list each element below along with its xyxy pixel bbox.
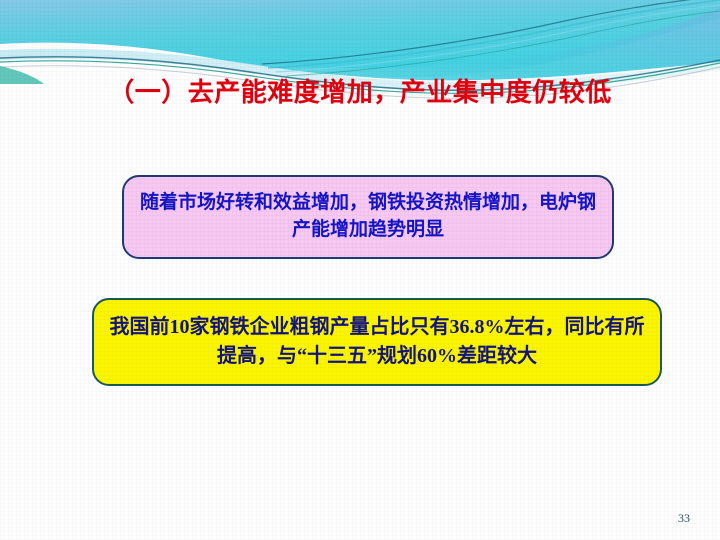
pink-callout-text: 随着市场好转和效益增加，钢铁投资热情增加，电炉钢产能增加趋势明显: [124, 190, 612, 244]
slide-title: （一）去产能难度增加，产业集中度仍较低: [0, 72, 720, 109]
yellow-callout-box: 我国前10家钢铁企业粗钢产量占比只有36.8%左右，同比有所提高，与“十三五”规…: [92, 298, 662, 386]
yellow-callout-text: 我国前10家钢铁企业粗钢产量占比只有36.8%左右，同比有所提高，与“十三五”规…: [94, 313, 660, 371]
presentation-slide: （一）去产能难度增加，产业集中度仍较低 随着市场好转和效益增加，钢铁投资热情增加…: [0, 0, 720, 540]
page-number: 33: [678, 511, 690, 526]
pink-callout-box: 随着市场好转和效益增加，钢铁投资热情增加，电炉钢产能增加趋势明显: [122, 175, 614, 259]
